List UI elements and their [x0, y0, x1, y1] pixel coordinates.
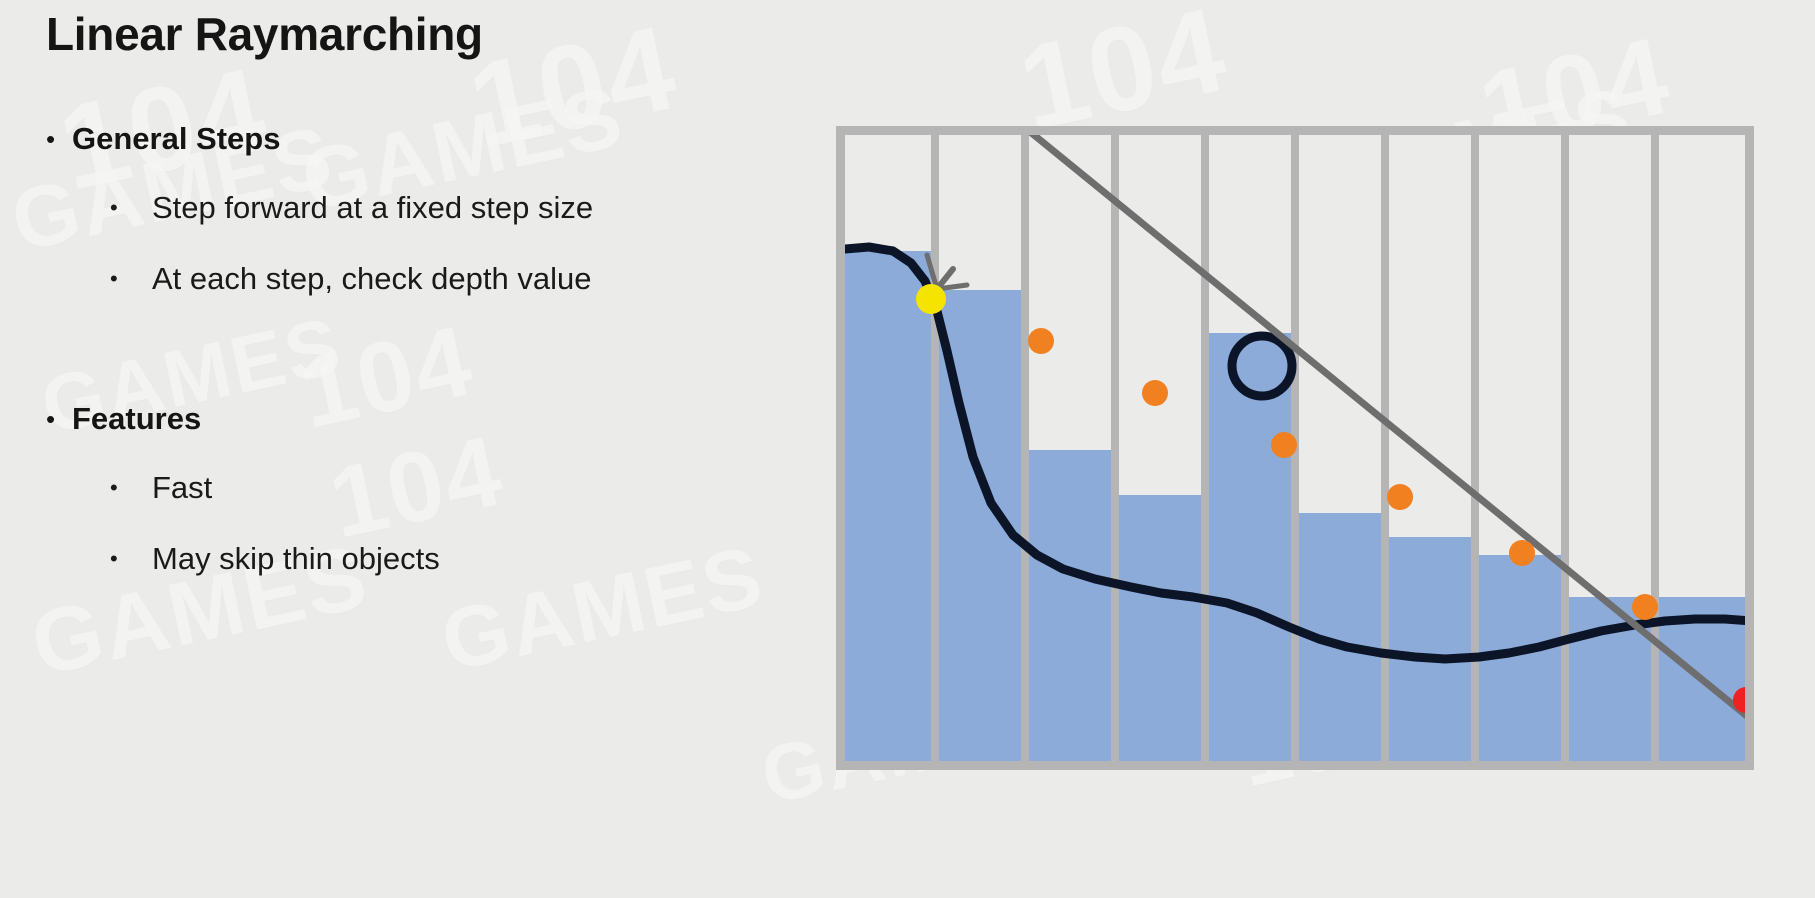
column-separator: [1651, 135, 1659, 761]
raymarching-diagram-svg: [828, 118, 1762, 778]
section-heading-general-steps: • General Steps: [46, 122, 746, 156]
section-heading-label: Features: [72, 402, 201, 436]
section-spacer: [46, 298, 746, 344]
origin-marker: [916, 284, 946, 314]
bar: [1115, 495, 1205, 761]
step-marker: [1142, 380, 1168, 406]
list-item: • Fast: [110, 469, 746, 507]
bullet-list: • General Steps • Step forward at a fixe…: [46, 122, 746, 578]
page-title: Linear Raymarching: [46, 6, 746, 64]
text-column: Linear Raymarching • General Steps • Ste…: [46, 6, 746, 578]
bar: [1025, 450, 1115, 761]
step-marker: [1387, 484, 1413, 510]
column-separator: [1201, 135, 1209, 761]
section-heading-label: General Steps: [72, 122, 280, 156]
step-marker: [1271, 432, 1297, 458]
raymarching-diagram: [828, 118, 1762, 778]
bullet-dot-icon: •: [46, 402, 72, 436]
column-separator: [1111, 135, 1119, 761]
section-heading-features: • Features: [46, 402, 746, 436]
step-marker: [1632, 594, 1658, 620]
column-separator: [1471, 135, 1479, 761]
column-separator: [1021, 135, 1029, 761]
list-item-label: Step forward at a fixed step size: [152, 189, 593, 227]
slide-root: 104GAMES104GAMES104104GAMES104GAMESGAMES…: [0, 0, 1815, 898]
bar: [845, 251, 935, 761]
list-item: • Step forward at a fixed step size: [110, 189, 746, 227]
list-item-label: May skip thin objects: [152, 540, 440, 578]
bullet-dot-icon: •: [110, 469, 152, 507]
list-item: • May skip thin objects: [110, 540, 746, 578]
bullet-dot-icon: •: [110, 260, 152, 298]
bullet-dot-icon: •: [110, 189, 152, 227]
column-separator: [1381, 135, 1389, 761]
column-separator: [1561, 135, 1569, 761]
bullet-dot-icon: •: [46, 122, 72, 156]
list-item-label: At each step, check depth value: [152, 260, 591, 298]
bullet-dot-icon: •: [110, 540, 152, 578]
list-item-label: Fast: [152, 469, 212, 507]
step-marker: [1509, 540, 1535, 566]
step-marker: [1028, 328, 1054, 354]
column-separator: [931, 135, 939, 761]
bar: [1385, 537, 1475, 761]
list-item: • At each step, check depth value: [110, 260, 746, 298]
